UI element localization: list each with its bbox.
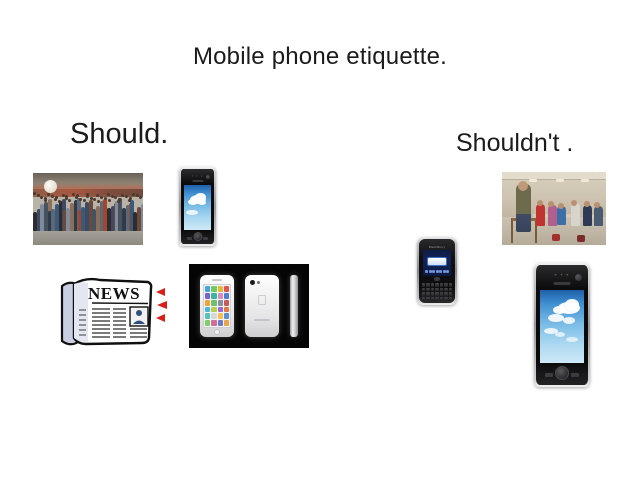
iphone-side-view <box>290 275 298 337</box>
classroom-ceiling <box>502 172 606 180</box>
earpiece-icon <box>192 180 203 182</box>
page-title: Mobile phone etiquette. <box>0 44 640 70</box>
iphone-front-view <box>200 275 234 337</box>
apple-logo-icon:  <box>257 293 267 306</box>
blackberry-icon-row <box>425 268 449 274</box>
right-softkey-icon <box>571 373 579 377</box>
classroom-photo[interactable] <box>502 172 606 245</box>
front-camera-icon <box>206 175 210 179</box>
group-photo-heads <box>33 192 143 205</box>
group-photo[interactable] <box>33 173 143 245</box>
newspaper-clipart[interactable]: NEWS <box>52 272 156 350</box>
smartphone-large-screen <box>540 290 584 363</box>
blackberry-brand-label: BlackBerry <box>429 245 446 249</box>
iphone-back-view:  <box>245 275 279 337</box>
home-button-icon <box>193 232 202 241</box>
earpiece-icon <box>554 282 571 285</box>
column-heading-should: Should. <box>70 119 168 151</box>
classroom-backpack <box>577 235 585 242</box>
impact-marks-icon <box>156 288 178 324</box>
smartphone-sky-large[interactable]: • • • <box>534 263 590 387</box>
iphone-earpiece-icon <box>212 279 222 281</box>
home-button-icon <box>555 366 569 380</box>
smartphone-small-body: • • • <box>181 169 214 244</box>
smartphone-small-screen <box>184 185 211 230</box>
right-softkey-icon <box>203 237 208 240</box>
iphone-home-button-icon <box>214 329 220 335</box>
ceiling-light-icon <box>529 179 537 182</box>
column-heading-shouldnt: Shouldn't . <box>456 130 573 158</box>
svg-text:NEWS: NEWS <box>88 284 140 303</box>
ceiling-light-icon <box>556 179 564 182</box>
classroom-backpack <box>552 234 560 241</box>
front-camera-icon <box>575 274 582 281</box>
classroom-instructor <box>516 184 531 232</box>
group-photo-ground <box>33 229 143 245</box>
iphone-wordmark <box>254 319 270 321</box>
blackberry-phone[interactable]: BlackBerry <box>417 237 457 305</box>
slide-canvas: Mobile phone etiquette. Should. Shouldn'… <box>0 0 640 480</box>
blackberry-keyboard <box>422 283 452 300</box>
iphone-app-grid <box>203 284 231 328</box>
classroom-instructor-head <box>518 181 528 191</box>
smartphone-large-body: • • • <box>536 265 588 385</box>
ceiling-light-icon <box>581 179 589 182</box>
left-softkey-icon <box>187 237 192 240</box>
iphone-product-shot[interactable]:  <box>189 264 309 348</box>
iphone-flash-icon <box>257 281 260 284</box>
blackberry-trackpad-icon <box>434 277 440 281</box>
iphone-rear-camera-icon <box>250 280 255 285</box>
newspaper-illustration: NEWS <box>52 272 156 350</box>
smartphone-sky-small[interactable]: • • • <box>179 167 216 246</box>
blackberry-screen <box>423 250 451 276</box>
speaker-dots-icon: • • • <box>192 174 203 178</box>
left-softkey-icon <box>545 373 553 377</box>
blackberry-notification-popup <box>428 258 446 265</box>
speaker-dots-icon: • • • <box>555 273 570 279</box>
blackberry-body: BlackBerry <box>419 239 455 303</box>
